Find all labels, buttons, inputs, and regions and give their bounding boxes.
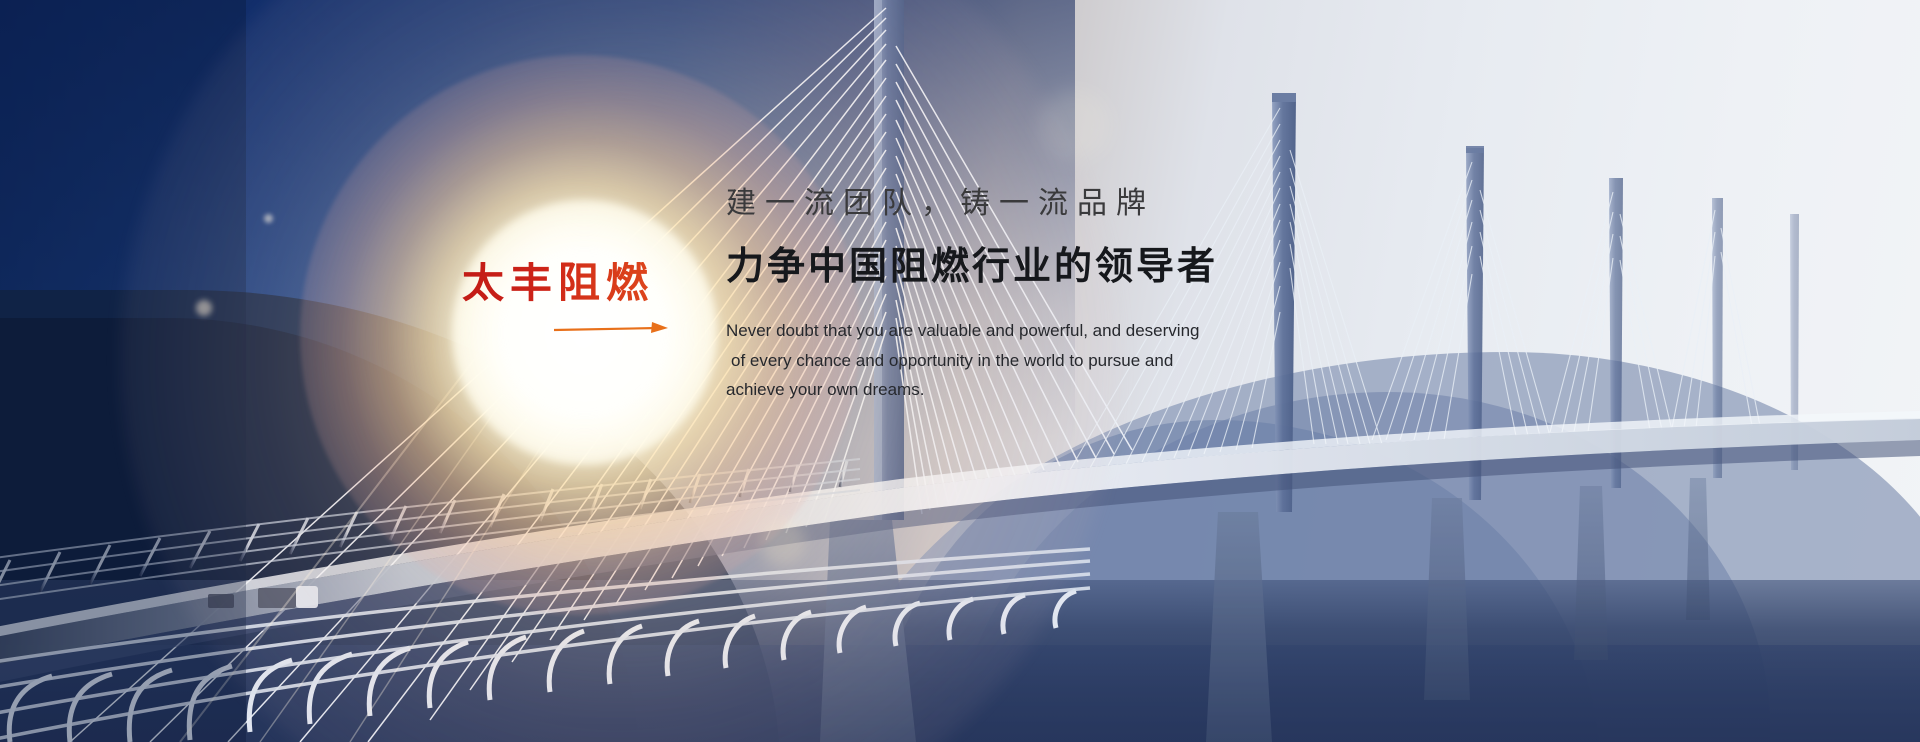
description-line-1: Never doubt that you are valuable and po…: [726, 316, 1346, 346]
description-line-2: of every chance and opportunity in the w…: [726, 346, 1346, 376]
banner-content: 太丰阻燃 建一流团队，铸一流品牌 力争中国阻燃行业的领导者 Never doub…: [0, 0, 1920, 742]
main-headline: 力争中国阻燃行业的领导者: [726, 244, 1346, 290]
headline-group: 建一流团队，铸一流品牌 力争中国阻燃行业的领导者 Never doubt tha…: [726, 186, 1346, 405]
arrow-right-icon: [554, 322, 670, 336]
brand-logo-text: 太丰阻燃: [462, 262, 672, 304]
sub-headline: 建一流团队，铸一流品牌: [726, 186, 1346, 222]
description-line-3: achieve your own dreams.: [726, 375, 1346, 405]
brand-logo: 太丰阻燃: [462, 262, 672, 341]
hero-banner: 太丰阻燃 建一流团队，铸一流品牌 力争中国阻燃行业的领导者 Never doub…: [0, 0, 1920, 742]
description-paragraph: Never doubt that you are valuable and po…: [726, 316, 1346, 406]
